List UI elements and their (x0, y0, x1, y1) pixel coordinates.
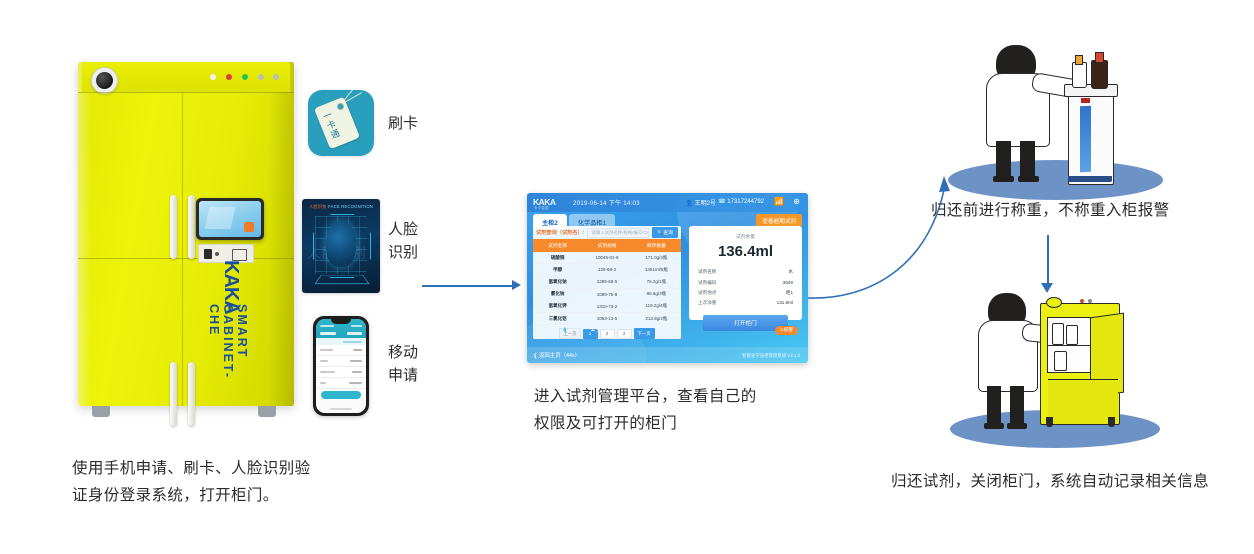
back-home-button[interactable]: ❮ 返回主页（44s） (533, 351, 580, 359)
kiosk-user-phone: ☎ 17317244792 (718, 198, 764, 205)
humidity-reading: 💧 52.3% (562, 327, 582, 333)
cell-qty: 1351ml/5瓶 (632, 264, 681, 276)
humidity-value: 52.3% (569, 327, 582, 332)
air-quality-value: 空气质量 (596, 327, 614, 332)
face-base-platform (314, 275, 369, 284)
phone-field-label (320, 349, 333, 351)
bottle-cap (1095, 52, 1104, 63)
auth-method-mobile[interactable] (313, 316, 369, 416)
cabinet-door-handle[interactable] (188, 362, 195, 426)
reader-chip-icon (204, 249, 212, 259)
reagent-list-panel: 试剂查询（试剂名）: 请输入试剂名称/规格/编号/CAS号 🔍查询 试剂名称 试… (533, 226, 681, 339)
scene-return (930, 285, 1180, 450)
cabinet-door-handle[interactable] (170, 362, 177, 426)
detail-value: 131.6ml (777, 300, 793, 306)
cabinet-screen-content (199, 201, 261, 237)
cabinet-seam (78, 92, 294, 93)
cell-qty: 171.0g/4瓶 (632, 252, 681, 264)
caption-weighing: 归还前进行称重，不称重入柜报警 (931, 197, 1170, 224)
phone-notch (331, 319, 351, 324)
remaining-label: 试剂余量 (689, 226, 802, 240)
person-leg (987, 386, 1001, 428)
arrow-head-to-kiosk (512, 280, 521, 290)
detail-value: 柜1 (786, 290, 793, 296)
table-row[interactable]: 甲醇128-68-31351ml/5瓶 (533, 264, 681, 276)
cell-qty: 76.2g/1瓶 (632, 276, 681, 288)
caption-login: 使用手机申请、刷卡、人脸识别验 证身份登录系统，打开柜门。 (72, 455, 311, 509)
cell-name: 氢氧化钠 (533, 276, 582, 288)
table-row[interactable]: 三氯化铝1053-13-5213.8g/2瓶 (533, 312, 681, 324)
caption-return: 归还试剂，关闭柜门，系统自动记录相关信息 (891, 468, 1209, 495)
cell-qty: 119.2g/4瓶 (632, 300, 681, 312)
detail-row-lastweight: 上次净重131.6ml (689, 298, 802, 308)
table-header-row: 试剂名称 试剂规格 库存数量 (533, 239, 681, 252)
cabinet-camera-icon (1046, 297, 1062, 308)
alarm-label: 报警 (784, 327, 793, 332)
station-base (1068, 176, 1112, 182)
col-stock-qty: 库存数量 (632, 239, 681, 252)
person-leg (996, 141, 1011, 181)
person-shoe (1007, 423, 1027, 429)
cell-name: 硫酸铜 (533, 252, 582, 264)
cell-qty: 213.8g/2瓶 (632, 312, 681, 324)
detail-label: 试剂编码 (698, 280, 716, 286)
led-indicator (226, 74, 232, 80)
phone-number-text: 17317244792 (727, 199, 764, 205)
detail-label: 上次净重 (698, 300, 716, 306)
table-row[interactable]: 氢氧化钾1310-73-2119.2g/4瓶 (533, 300, 681, 312)
detail-row-code: 试剂编码3649 (689, 277, 802, 287)
phone-field-label (320, 371, 335, 373)
phone-submit-button[interactable] (321, 391, 361, 399)
phone-statusbar-left (320, 325, 334, 327)
phone-field-value (353, 349, 362, 351)
phone-field-label (320, 360, 328, 362)
phone-action-text (347, 332, 362, 335)
face-recognition-icon: 人脸识别·FACE RECOGNITION 人脸识别 (302, 199, 380, 293)
phone-form-row (316, 378, 366, 389)
phone-app-header (316, 319, 366, 338)
kiosk-datetime: 2019-06-14 下午 14:03 (573, 198, 640, 207)
phone-field-value (350, 360, 362, 362)
person-shoe (984, 423, 1004, 429)
reagent-bottle (1091, 60, 1108, 89)
cabinet-door-handle[interactable] (188, 195, 195, 259)
cell-spec: 1395-68-5 (582, 276, 631, 288)
table-row[interactable]: 硫酸铜10045-01-8171.0g/4瓶 (533, 252, 681, 264)
bottle-cap (1075, 55, 1083, 65)
environment-status-bar: 🌡 23.6℃ 💧 52.3% ☁ 空气质量 ⚠报警 (533, 324, 802, 335)
auth-label-card: 刷卡 (388, 112, 418, 135)
led-indicator (210, 74, 216, 80)
cell-qty: 88.6g/3瓶 (632, 288, 681, 300)
cabinet-wheel (1108, 417, 1115, 427)
reagent-table: 试剂名称 试剂规格 库存数量 硫酸铜10045-01-8171.0g/4瓶 甲醇… (533, 239, 681, 325)
face-header-cn: 人脸识别· (309, 204, 328, 209)
search-button-label: 查询 (663, 231, 673, 236)
search-button[interactable]: 🔍查询 (652, 227, 678, 238)
cell-name: 氯化钠 (533, 288, 582, 300)
reagent-search-row: 试剂查询（试剂名）: 请输入试剂名称/规格/编号/CAS号 🔍查询 (533, 226, 681, 239)
workflow-diagram: KAKA SMART CABINET-CHE 一卡通 刷卡 人脸识别·FACE … (0, 0, 1254, 554)
detail-label: 试剂名称 (698, 269, 716, 275)
air-quality-reading: ☁ 空气质量 (590, 327, 614, 333)
arrow-down-line (1047, 235, 1049, 285)
search-label: 试剂查询（试剂名）: (536, 229, 584, 236)
auth-label-mobile: 移动 申请 (388, 341, 418, 387)
auth-method-face[interactable]: 人脸识别·FACE RECOGNITION 人脸识别 (302, 199, 380, 293)
auth-label-face: 人脸 识别 (388, 218, 418, 264)
cabinet-model-text: SMART CABINET-CHE (207, 304, 249, 388)
kaka-logo: KAKA (202, 260, 242, 300)
kiosk-user-name: 👤 王明2号 (686, 198, 717, 207)
led-indicator (258, 74, 264, 80)
cell-name: 甲醇 (533, 264, 582, 276)
face-header-en: FACE RECOGNITION (328, 204, 373, 209)
remaining-value: 136.4ml (689, 240, 802, 267)
smart-cabinet-illustration: KAKA SMART CABINET-CHE (78, 62, 294, 418)
phone-subheader (316, 338, 366, 345)
kiosk-version-text: 智能化学品柜管理系统 V2.1.0 (742, 353, 800, 359)
back-home-label: 返回主页（44s） (539, 353, 580, 359)
detail-label: 试剂地点 (698, 290, 716, 296)
table-row[interactable]: 氢氧化钠1395-68-576.2g/1瓶 (533, 276, 681, 288)
weighing-station (1068, 88, 1114, 185)
card-hole (337, 103, 344, 110)
phone-form-row (316, 367, 366, 378)
reader-led-icon (215, 252, 219, 256)
phone-statusbar-right (351, 325, 362, 327)
cell-spec: 1310-73-2 (582, 300, 631, 312)
cabinet-branding: KAKA SMART CABINET-CHE (204, 260, 238, 388)
cabinet-touchscreen[interactable] (196, 198, 264, 240)
cell-spec: 128-68-3 (582, 264, 631, 276)
reagent-bottle (1066, 325, 1078, 345)
cabinet-highlight-left (78, 62, 92, 406)
detail-value: 3649 (783, 280, 793, 286)
cabinet-led (1088, 299, 1092, 303)
kiosk-header (527, 193, 808, 212)
reagent-bottle (1072, 62, 1087, 88)
phone-icon: ☎ (718, 199, 725, 205)
cabinet-door-handle[interactable] (170, 195, 177, 259)
temperature-value: 23.6℃ (540, 327, 554, 332)
scene-weighing (940, 40, 1180, 195)
phone-form-row (316, 345, 366, 356)
plus-circle-icon[interactable]: ⊕ (793, 197, 800, 206)
face-silhouette (326, 221, 356, 267)
reagent-detail-panel: 试剂余量 136.4ml 试剂名称水 试剂编码3649 试剂地点柜1 上次净重1… (689, 226, 802, 320)
reagent-management-kiosk[interactable]: KAKA 卡卡智能 2019-06-14 下午 14:03 👤 王明2号 ☎ 1… (527, 193, 808, 363)
phone-field-value (352, 371, 362, 373)
kiosk-logo-sub: 卡卡智能 (534, 205, 549, 210)
phone-field-label (320, 382, 326, 384)
alarm-button[interactable]: ⚠报警 (775, 326, 798, 335)
mobile-phone-icon (313, 316, 369, 416)
caption-platform: 进入试剂管理平台，查看自己的 权限及可打开的柜门 (534, 383, 757, 437)
face-header-text: 人脸识别·FACE RECOGNITION (309, 204, 373, 210)
wifi-icon[interactable]: 📶 (774, 197, 784, 206)
cell-spec: 1089-75-8 (582, 288, 631, 300)
cabinet-foot (92, 406, 110, 417)
cell-name: 氢氧化钾 (533, 300, 582, 312)
detail-row-name: 试剂名称水 (689, 267, 802, 277)
person-shoe (993, 176, 1014, 182)
user-icon: 👤 (686, 201, 693, 207)
cabinet-wheel (1046, 417, 1053, 427)
phone-title-text (320, 332, 336, 335)
card-swipe-icon: 一卡通 (308, 90, 374, 156)
col-reagent-name: 试剂名称 (533, 239, 582, 252)
table-row[interactable]: 氯化钠1089-75-888.6g/3瓶 (533, 288, 681, 300)
cabinet-door-split (182, 92, 183, 406)
col-reagent-spec: 试剂规格 (582, 239, 631, 252)
person-shoe (1018, 176, 1039, 182)
station-display (1081, 98, 1090, 103)
search-input[interactable]: 请输入试剂名称/规格/编号/CAS号 (587, 228, 649, 238)
phone-form-row (316, 356, 366, 367)
scene-ground-ellipse (948, 160, 1163, 200)
reagent-bottle (1052, 323, 1064, 345)
camera-icon (91, 67, 118, 94)
cell-name: 三氯化铝 (533, 312, 582, 324)
user-name-text: 王明2号 (695, 201, 716, 207)
reagent-bottle (1054, 351, 1067, 371)
led-indicator (242, 74, 248, 80)
auth-method-card[interactable]: 一卡通 (308, 90, 374, 156)
status-led-row (210, 74, 282, 81)
arrow-to-kiosk (422, 285, 514, 287)
station-label-strip (1080, 106, 1091, 172)
led-indicator (273, 74, 279, 80)
cabinet-shadow-right (268, 62, 294, 406)
detail-row-location: 试剂地点柜1 (689, 288, 802, 298)
cell-spec: 10045-01-8 (582, 252, 631, 264)
cell-spec: 1053-13-5 (582, 312, 631, 324)
cabinet-led (1080, 299, 1084, 303)
phone-screen (316, 319, 366, 413)
person-leg (1010, 386, 1024, 428)
person-leg (1020, 141, 1035, 181)
phone-home-indicator (330, 408, 352, 410)
temperature-reading: 🌡 23.6℃ (533, 327, 554, 333)
cabinet-mid-seam (78, 258, 294, 259)
cabinet-foot (258, 406, 276, 417)
phone-field-value (349, 382, 362, 384)
detail-value: 水 (788, 269, 793, 275)
